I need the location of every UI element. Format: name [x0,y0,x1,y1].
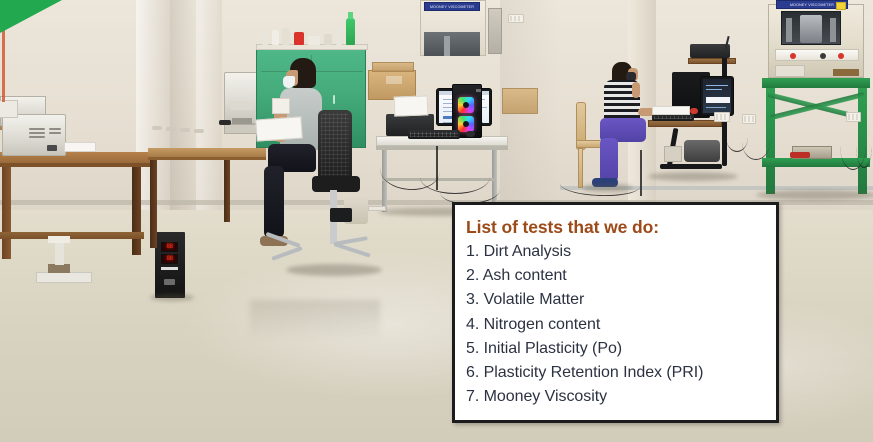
printer-paper-tray [394,95,429,116]
bottle-6 [336,26,342,45]
small-sample-3 [180,128,190,132]
bottle-green-spray [346,18,355,45]
stand-shelf-red-item [790,152,810,158]
cable-right-d [856,124,872,168]
carton-label [386,76,402,84]
viscometer-nameplate [833,69,859,76]
keyboard[interactable] [408,130,460,139]
viscometer-back-label: MOONEY VISCOMETER [424,2,480,11]
small-sample-1 [152,126,162,130]
bottle-red [294,32,304,45]
mooney-viscometer [768,4,864,78]
bottle-1 [262,34,268,45]
microscope-stage [231,101,253,110]
test-item-2: 2. Ash content [466,264,776,288]
person-left-face-mask [283,76,295,88]
mouse[interactable] [466,131,475,137]
shadow-led-unit [150,294,194,301]
cart-keyboard-shelf [648,120,722,127]
shadow-office-chair [286,264,382,276]
cart-red-object [690,108,698,114]
cart-lower-box [664,146,682,162]
led-control-unit: 88 88 [155,232,185,298]
led-readout-top: 88 [162,243,177,251]
tests-info-panel: List of tests that we do: 1. Dirt Analys… [452,202,779,423]
paper-left-bench [64,142,96,152]
vertical-red-pipe [2,24,5,102]
bottle-4 [308,36,320,45]
bottle-3 [282,28,290,45]
shadow-green-stand [756,190,873,200]
test-item-6: 6. Plasticity Retention Index (PRI) [466,361,776,385]
shadow-cart [648,172,738,181]
bench-mid-leg-b [224,160,230,222]
bench-left-leg-back [132,167,141,255]
carton-box-b [372,62,414,72]
cable-right-b [742,124,770,160]
test-item-1: 1. Dirt Analysis [466,240,776,264]
sample-block [48,264,70,273]
bottle-green-cap [348,12,353,19]
pc-power-button[interactable] [476,89,481,92]
floor-black-box [330,208,352,222]
sample-tray [36,272,92,283]
wall-outlet-a [714,112,730,122]
person-left-leg [264,166,284,238]
bottle-2 [272,30,279,45]
cable-right-e [640,150,642,196]
instrument-left-riser [0,100,18,118]
cart-ups-unit [684,140,720,162]
tests-list: 1. Dirt Analysis 2. Ash content 3. Volat… [466,240,776,409]
test-item-3: 3. Volatile Matter [466,288,776,312]
floor-power-strip [368,206,386,211]
cup-on-bench [272,98,290,114]
viscometer-control-panel [775,49,859,61]
wall-outlet-c [846,112,861,122]
viscometer-back-post [444,36,450,56]
instrument-white-left [2,114,66,156]
bench-mid-top [148,148,266,157]
small-sample-4 [194,129,204,133]
sample-stand-post [55,240,64,265]
cart-monitor [700,76,734,116]
viscometer-button-red-a[interactable] [790,53,796,59]
viscometer-button-red-b[interactable] [838,53,844,59]
viscometer-piston-left [786,18,792,42]
cart-top-shelf [688,58,736,64]
led-unit-strip [161,267,178,270]
office-chair-back [318,110,352,182]
bottle-5 [324,34,332,45]
bench-mid-edge [148,157,266,160]
laboratory-photo: 88 88 [0,0,873,442]
bench-left-lower-shelf [0,232,144,239]
panel-title: List of tests that we do: [466,216,776,238]
sample-stand-head [48,236,70,243]
led-unit-knob [164,279,175,285]
viscometer-button-dark[interactable] [820,53,826,59]
test-item-7: 7. Mooney Viscosity [466,385,776,409]
led-readout-bottom: 88 [162,255,177,263]
test-item-5: 5. Initial Plasticity (Po) [466,337,776,361]
cart-monitor-screen [703,79,731,113]
wall-conduit [488,8,502,54]
green-corner-accent [0,0,62,33]
cart-keyboard[interactable] [652,114,694,121]
wall-shadow-a [170,0,200,212]
rgb-fan-bottom [458,116,474,132]
cart-base-bar [660,164,722,169]
document-in-hand [255,116,302,141]
cart-papers [652,106,690,115]
rgb-fan-top [458,97,474,113]
bench-left-leg-front [2,167,11,259]
bench-mid-leg-a [150,160,157,248]
warning-sticker [836,2,846,10]
microscope-eyepiece [219,120,231,125]
viscometer-rotor [800,15,822,43]
instrument-badge [47,145,57,151]
person-right-arm-up [632,82,640,98]
viscometer-chamber-window [781,11,841,45]
small-sample-2 [166,127,176,131]
viscometer-back-window [424,32,480,56]
microscope-body [224,72,260,124]
carton-box-c [502,88,538,114]
green-stand-top [762,78,870,88]
viscometer-door[interactable] [775,65,805,77]
viscometer-piston-right [830,18,836,42]
wall-switch-panel-back [508,14,524,23]
cable-desk-v [436,146,438,190]
test-item-4: 4. Nitrogen content [466,313,776,337]
